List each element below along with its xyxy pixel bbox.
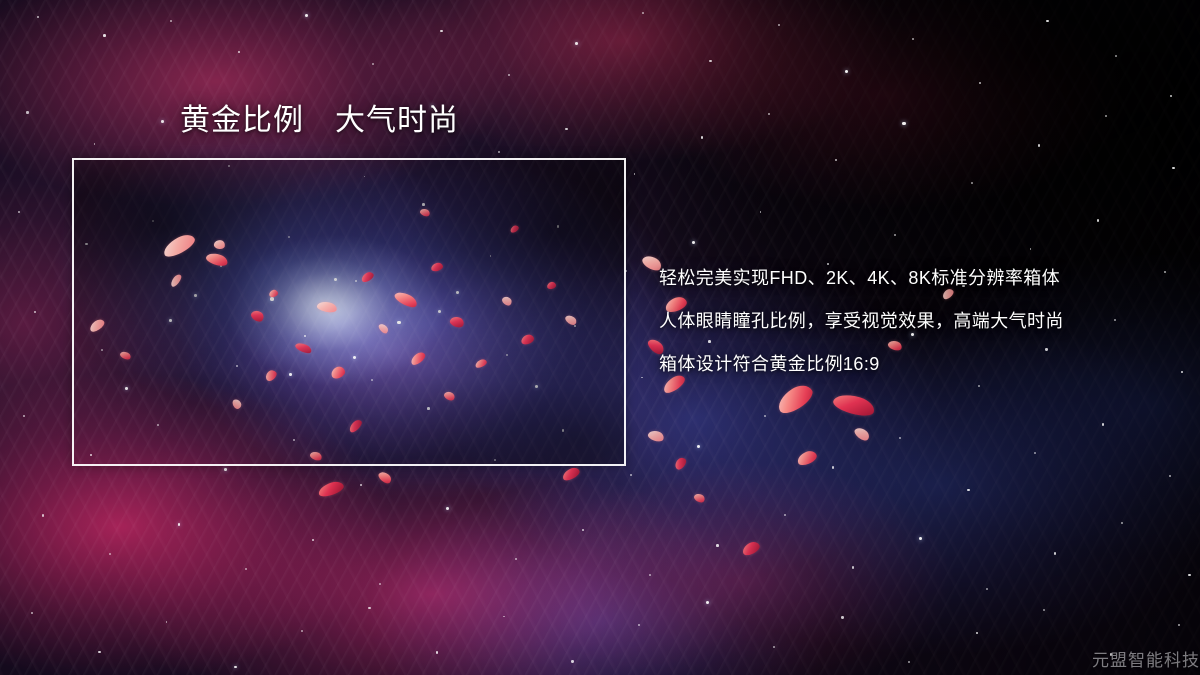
star <box>161 120 164 123</box>
star <box>1178 624 1180 626</box>
star <box>498 151 500 153</box>
star <box>1102 423 1104 425</box>
star <box>967 489 970 492</box>
star <box>784 514 786 516</box>
panel-shading <box>74 160 624 464</box>
star <box>1097 219 1099 221</box>
star <box>630 474 632 476</box>
star <box>697 445 700 448</box>
star <box>575 42 578 45</box>
star <box>94 143 96 145</box>
rose-petal <box>673 456 688 472</box>
star <box>841 616 843 618</box>
star <box>26 111 28 113</box>
star <box>1043 609 1045 611</box>
star <box>18 211 20 213</box>
rose-petal <box>692 492 705 504</box>
watermark-text: 元盟智能科技 <box>1092 646 1200 671</box>
star <box>42 514 44 516</box>
star <box>852 566 854 568</box>
rose-petal <box>317 480 345 499</box>
star <box>23 415 25 417</box>
star <box>764 415 766 417</box>
star <box>899 437 901 439</box>
star <box>515 558 517 560</box>
star <box>832 466 834 468</box>
star <box>508 74 510 76</box>
body-line-1: 轻松完美实现FHD、2K、4K、8K标准分辨率箱体 <box>659 257 1179 300</box>
star <box>238 51 240 53</box>
rose-petal <box>647 428 665 442</box>
body-line-3: 箱体设计符合黄金比例16:9 <box>659 343 1179 386</box>
star <box>1034 452 1036 454</box>
star <box>908 661 910 663</box>
star <box>971 182 973 184</box>
star <box>1038 144 1040 146</box>
star <box>440 30 442 32</box>
star <box>166 621 168 623</box>
star <box>641 377 643 379</box>
image-panel-frame <box>72 158 626 466</box>
body-line-2: 人体眼睛瞳孔比例，享受视觉效果，高端大气时尚 <box>659 300 1179 343</box>
rose-petal <box>377 469 394 485</box>
star <box>912 38 914 40</box>
rose-petal <box>831 390 876 419</box>
rose-petal <box>795 449 818 468</box>
star <box>436 651 439 654</box>
star <box>979 82 981 84</box>
star <box>768 113 770 115</box>
star <box>1030 248 1032 250</box>
star <box>178 523 181 526</box>
body-text-block: 轻松完美实现FHD、2K、4K、8K标准分辨率箱体 人体眼睛瞳孔比例，享受视觉效… <box>659 257 1179 386</box>
star <box>1172 167 1175 170</box>
star <box>37 16 39 18</box>
star <box>638 624 640 626</box>
star <box>778 24 780 26</box>
star <box>372 63 374 65</box>
star <box>902 122 905 125</box>
star <box>1046 20 1049 23</box>
star <box>649 574 651 576</box>
rose-petal <box>853 425 872 443</box>
star <box>234 666 237 669</box>
star <box>706 601 709 604</box>
star <box>301 630 303 632</box>
star <box>1169 475 1171 477</box>
rose-petal <box>560 466 581 483</box>
star <box>446 507 449 510</box>
star <box>503 616 505 618</box>
star <box>571 660 573 662</box>
star <box>709 60 711 62</box>
page-title: 黄金比例 大气时尚 <box>180 103 459 139</box>
star <box>109 553 111 555</box>
star <box>360 484 362 486</box>
star <box>976 632 979 635</box>
star <box>1181 371 1184 374</box>
star <box>692 241 695 244</box>
star <box>1188 574 1191 577</box>
star <box>773 646 775 648</box>
star <box>98 651 100 653</box>
star <box>1121 522 1123 524</box>
star <box>642 12 644 14</box>
star <box>835 159 837 161</box>
star <box>245 568 247 570</box>
star <box>919 537 922 540</box>
star <box>701 136 704 139</box>
star <box>312 539 314 541</box>
star <box>845 70 848 73</box>
star <box>170 20 172 22</box>
star <box>103 34 106 37</box>
rose-petal <box>740 540 761 558</box>
star <box>224 468 227 471</box>
star <box>986 588 988 590</box>
star <box>305 14 308 17</box>
star <box>368 607 370 609</box>
star <box>760 211 762 213</box>
star <box>1054 552 1056 554</box>
star <box>379 583 381 585</box>
star <box>634 173 636 175</box>
star <box>31 612 33 614</box>
image-panel-content <box>74 160 624 464</box>
star <box>565 128 567 130</box>
star <box>1115 55 1117 57</box>
star <box>1105 115 1107 117</box>
star <box>34 311 36 313</box>
star <box>716 544 719 547</box>
star <box>1170 95 1172 97</box>
star <box>894 234 896 236</box>
presentation-slide: 黄金比例 大气时尚 轻松完美实现FHD、2K、4K、8K标准分辨率箱体 人体眼睛… <box>0 0 1200 675</box>
star <box>582 529 584 531</box>
